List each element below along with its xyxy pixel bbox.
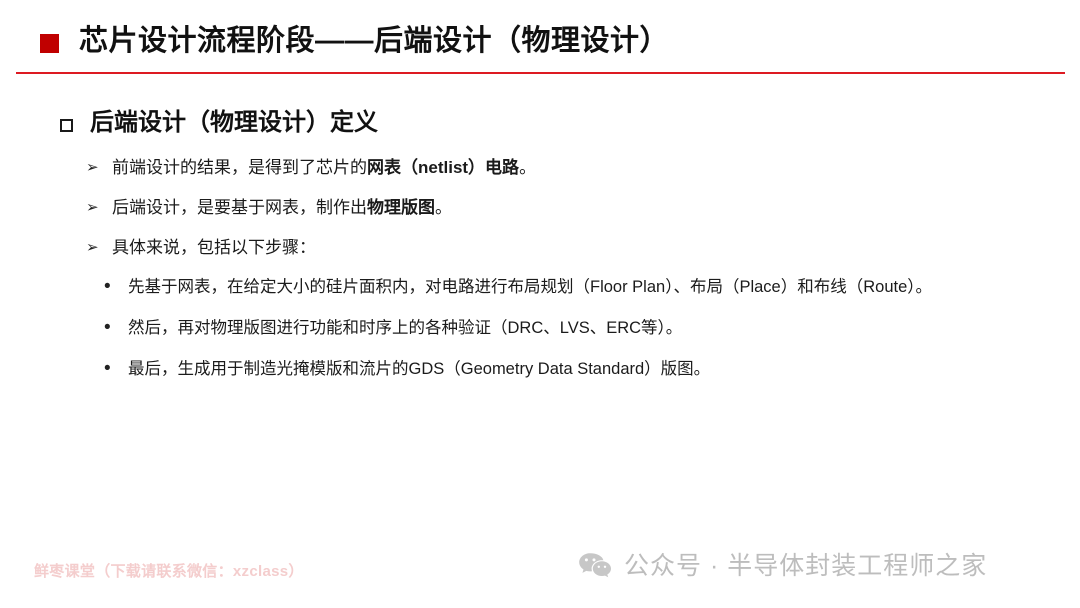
list-item-label: 然后，再对物理版图进行功能和时序上的各种验证（DRC、LVS、ERC等）。 [128, 317, 682, 340]
slide-canvas: 芯片设计流程阶段——后端设计（物理设计） 后端设计（物理设计）定义 ➢ 前端设计… [0, 0, 1080, 608]
left-watermark: 鲜枣课堂（下载请联系微信：xzclass） [34, 560, 304, 581]
list-item: • 最后，生成用于制造光掩模版和流片的GDS（Geometry Data Sta… [104, 358, 1064, 384]
text-segment: 前端设计的结果，是得到了芯片的 [112, 158, 367, 177]
text-segment: 。 [519, 158, 536, 177]
slide-subtitle-row: 后端设计（物理设计）定义 [60, 106, 378, 140]
page-title: 芯片设计流程阶段——后端设计（物理设计） [79, 27, 669, 56]
wechat-icon [578, 552, 612, 580]
text-segment: 。 [435, 198, 452, 217]
text-segment-bold: 物理版图 [367, 198, 435, 217]
arrow-bullet-icon: ➢ [86, 236, 112, 260]
title-divider [16, 72, 1065, 74]
list-item: ➢ 前端设计的结果，是得到了芯片的网表（netlist）电路。 [86, 156, 1046, 182]
list-item-label: 先基于网表，在给定大小的硅片面积内，对电路进行布局规划（Floor Plan）、… [128, 276, 932, 299]
arrow-bullet-icon: ➢ [86, 156, 112, 180]
list-item-label: 前端设计的结果，是得到了芯片的网表（netlist）电路。 [112, 156, 536, 180]
dot-bullet-icon: • [104, 276, 128, 298]
bullet-list-level2: • 先基于网表，在给定大小的硅片面积内，对电路进行布局规划（Floor Plan… [104, 276, 1064, 399]
text-segment: 后端设计，是要基于网表，制作出 [112, 198, 367, 217]
list-item-label: 具体来说，包括以下步骤： [112, 236, 316, 260]
list-item: • 先基于网表，在给定大小的硅片面积内，对电路进行布局规划（Floor Plan… [104, 276, 1064, 302]
text-segment-bold: 网表（netlist）电路 [367, 158, 519, 177]
dot-bullet-icon: • [104, 358, 128, 380]
right-watermark-label: 公众号 · 半导体封装工程师之家 [624, 554, 987, 579]
list-item: ➢ 具体来说，包括以下步骤： [86, 236, 1046, 262]
list-item-label: 后端设计，是要基于网表，制作出物理版图。 [112, 196, 452, 220]
arrow-bullet-icon: ➢ [86, 196, 112, 220]
bullet-list-level1: ➢ 前端设计的结果，是得到了芯片的网表（netlist）电路。 ➢ 后端设计，是… [86, 156, 1046, 276]
dot-bullet-icon: • [104, 317, 128, 339]
right-watermark: 公众号 · 半导体封装工程师之家 [578, 546, 987, 586]
subtitle-text: 后端设计（物理设计）定义 [90, 111, 378, 135]
subtitle-hollow-square-icon [60, 119, 73, 132]
list-item-label: 最后，生成用于制造光掩模版和流片的GDS（Geometry Data Stand… [128, 358, 710, 381]
slide-title-row: 芯片设计流程阶段——后端设计（物理设计） [40, 18, 669, 64]
list-item: • 然后，再对物理版图进行功能和时序上的各种验证（DRC、LVS、ERC等）。 [104, 317, 1064, 343]
title-square-marker-icon [40, 34, 59, 53]
list-item: ➢ 后端设计，是要基于网表，制作出物理版图。 [86, 196, 1046, 222]
